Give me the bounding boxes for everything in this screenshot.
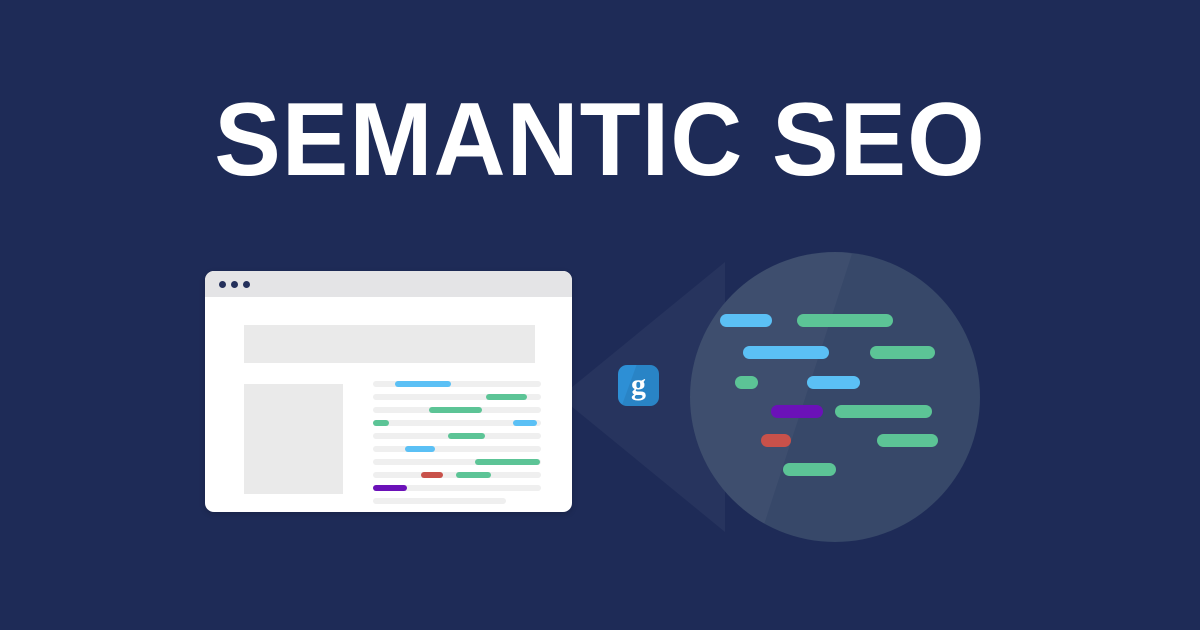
content-line (373, 498, 541, 504)
hero-image-placeholder (244, 325, 535, 363)
content-line-highlight (395, 381, 451, 387)
lens-highlight-bar (783, 463, 836, 476)
content-line (373, 485, 541, 491)
lens-highlight-bar (735, 376, 758, 389)
content-line (373, 420, 541, 426)
content-line (373, 394, 541, 400)
magnifier-lens (690, 252, 980, 542)
page-title: SEMANTIC SEO (24, 88, 1176, 192)
sidebar-image-placeholder (244, 384, 343, 494)
browser-titlebar (205, 271, 572, 297)
lens-highlight-bar (870, 346, 935, 359)
content-line (373, 459, 541, 465)
google-badge-letter: g (618, 365, 659, 406)
content-line-highlight (486, 394, 527, 400)
lens-highlight-bar (720, 314, 772, 327)
content-line (373, 446, 541, 452)
lens-highlight-bar (743, 346, 829, 359)
content-line (373, 381, 541, 387)
lens-highlight-bar (761, 434, 791, 447)
content-line-highlight (405, 446, 435, 452)
content-line-highlight (373, 485, 407, 491)
content-line (373, 407, 541, 413)
content-line-track (373, 498, 506, 504)
lens-highlight-bar (835, 405, 932, 418)
browser-window-mockup (205, 271, 572, 512)
maximize-dot-icon[interactable] (243, 281, 250, 288)
poster-canvas: SEMANTIC SEO g (0, 0, 1200, 630)
content-text-lines (373, 381, 541, 506)
close-dot-icon[interactable] (219, 281, 226, 288)
lens-sheen (690, 252, 852, 542)
lens-highlight-bar (797, 314, 893, 327)
content-line-highlight (373, 420, 389, 426)
content-line-highlight (456, 472, 491, 478)
content-line-highlight (475, 459, 540, 465)
content-line (373, 472, 541, 478)
content-line-highlight (448, 433, 485, 439)
content-line-highlight (513, 420, 537, 426)
content-line-highlight (429, 407, 482, 413)
lens-highlight-bar (807, 376, 860, 389)
google-badge[interactable]: g (618, 365, 659, 406)
lens-highlight-bar (771, 405, 823, 418)
content-line-highlight (421, 472, 443, 478)
minimize-dot-icon[interactable] (231, 281, 238, 288)
content-line (373, 433, 541, 439)
lens-highlight-bar (877, 434, 938, 447)
content-line-track (373, 446, 541, 452)
